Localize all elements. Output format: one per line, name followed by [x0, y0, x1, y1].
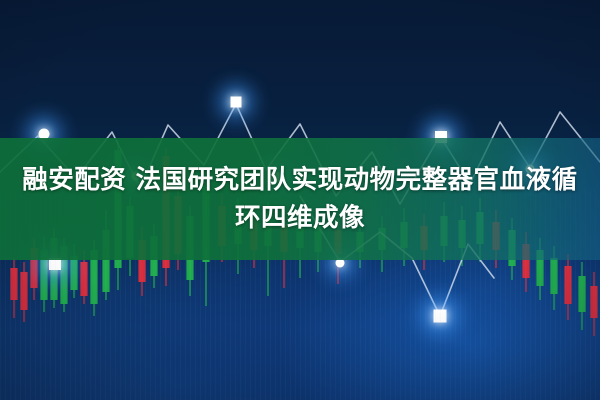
headline-line-1: 融安配资 法国研究团队实现动物完整器官血液循 — [22, 161, 577, 199]
headline-block: 融安配资 法国研究团队实现动物完整器官血液循 环四维成像 — [0, 138, 600, 260]
news-thumbnail-banner: 融安配资 法国研究团队实现动物完整器官血液循 环四维成像 — [0, 0, 600, 400]
headline-line-2: 环四维成像 — [235, 199, 365, 237]
